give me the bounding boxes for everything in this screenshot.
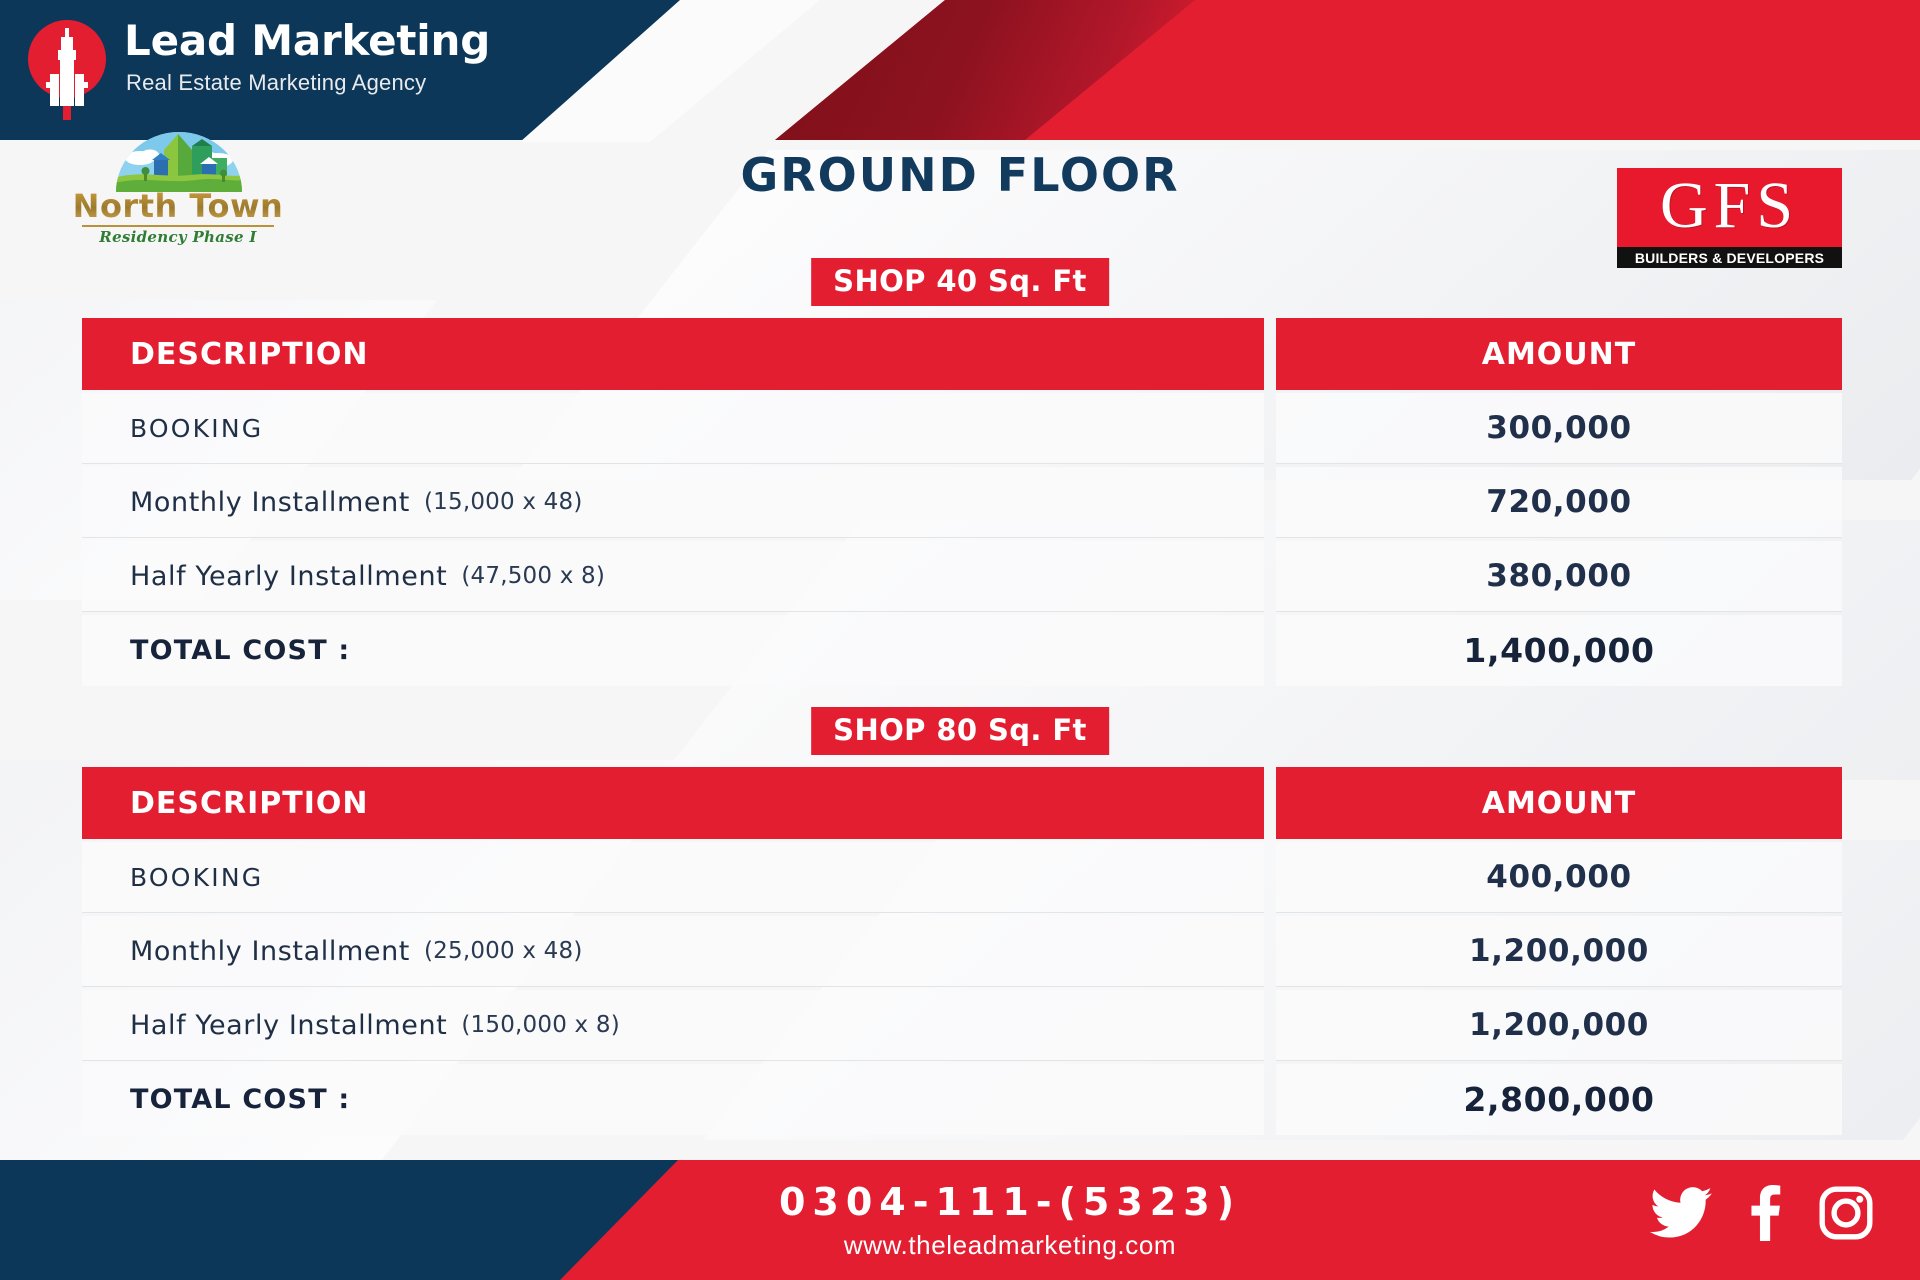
- facebook-icon[interactable]: [1746, 1185, 1784, 1241]
- row-amount: 1,200,000: [1469, 1007, 1649, 1043]
- gfs-logo: GFS BUILDERS & DEVELOPERS: [1617, 168, 1842, 268]
- table-row: Half Yearly Installment (150,000 x 8) 1,…: [82, 990, 1842, 1061]
- row-amount-cell: 300,000: [1276, 393, 1842, 464]
- contact-phone[interactable]: 0304-111-(5323): [560, 1180, 1460, 1224]
- row-label: BOOKING: [130, 414, 263, 443]
- gfs-logo-box: GFS: [1617, 168, 1842, 247]
- building-tower-icon: [46, 28, 88, 120]
- row-description: Half Yearly Installment (150,000 x 8): [82, 990, 1264, 1061]
- row-note: (47,500 x 8): [461, 563, 605, 589]
- table-total-row: TOTAL COST : 2,800,000: [82, 1064, 1842, 1135]
- row-note: (150,000 x 8): [461, 1012, 620, 1038]
- row-description: BOOKING: [82, 842, 1264, 913]
- row-label: Monthly Installment: [130, 487, 410, 518]
- row-description: Half Yearly Installment (47,500 x 8): [82, 541, 1264, 612]
- row-amount-cell: 1,200,000: [1276, 916, 1842, 987]
- row-amount-cell: 380,000: [1276, 541, 1842, 612]
- table-header-row: DESCRIPTION AMOUNT: [82, 767, 1842, 839]
- row-amount-cell: 400,000: [1276, 842, 1842, 913]
- instagram-icon[interactable]: [1818, 1185, 1874, 1241]
- column-header-amount: AMOUNT: [1276, 318, 1842, 390]
- table-row: Monthly Installment (15,000 x 48) 720,00…: [82, 467, 1842, 538]
- shop-size-badge-80: SHOP 80 Sq. Ft: [811, 707, 1109, 755]
- row-amount: 300,000: [1486, 410, 1631, 446]
- shop-size-badge-40: SHOP 40 Sq. Ft: [811, 258, 1109, 306]
- row-description: Monthly Installment (25,000 x 48): [82, 916, 1264, 987]
- row-amount: 2,800,000: [1463, 1080, 1654, 1119]
- social-links: [1650, 1185, 1874, 1241]
- row-label: TOTAL COST :: [130, 1084, 350, 1115]
- column-header-description: DESCRIPTION: [82, 318, 1264, 390]
- table-header-row: DESCRIPTION AMOUNT: [82, 318, 1842, 390]
- row-label: Monthly Installment: [130, 936, 410, 967]
- row-description: Monthly Installment (15,000 x 48): [82, 467, 1264, 538]
- gfs-initials: GFS: [1660, 173, 1799, 239]
- payment-plan-table-80: DESCRIPTION AMOUNT BOOKING 400,000 Month…: [82, 767, 1842, 1138]
- table-row: BOOKING 400,000: [82, 842, 1842, 913]
- row-amount: 1,200,000: [1469, 933, 1649, 969]
- agency-tagline: Real Estate Marketing Agency: [126, 70, 426, 96]
- row-amount-cell: 2,800,000: [1276, 1064, 1842, 1135]
- row-amount: 1,400,000: [1463, 631, 1654, 670]
- row-amount: 720,000: [1486, 484, 1631, 520]
- row-label: Half Yearly Installment: [130, 561, 447, 592]
- row-description: BOOKING: [82, 393, 1264, 464]
- twitter-icon[interactable]: [1650, 1187, 1712, 1239]
- contact-website[interactable]: www.theleadmarketing.com: [560, 1230, 1460, 1261]
- row-amount-cell: 1,200,000: [1276, 990, 1842, 1061]
- gfs-tagline: BUILDERS & DEVELOPERS: [1635, 250, 1824, 266]
- row-amount: 380,000: [1486, 558, 1631, 594]
- row-label: BOOKING: [130, 863, 263, 892]
- table-row: Monthly Installment (25,000 x 48) 1,200,…: [82, 916, 1842, 987]
- column-header-amount: AMOUNT: [1276, 767, 1842, 839]
- row-description: TOTAL COST :: [82, 615, 1264, 686]
- agency-name: Lead Marketing: [124, 18, 490, 64]
- row-description: TOTAL COST :: [82, 1064, 1264, 1135]
- gfs-tagline-bar: BUILDERS & DEVELOPERS: [1617, 247, 1842, 268]
- row-label: TOTAL COST :: [130, 635, 350, 666]
- row-amount-cell: 1,400,000: [1276, 615, 1842, 686]
- north-town-subtitle: Residency Phase I: [62, 228, 294, 246]
- row-amount-cell: 720,000: [1276, 467, 1842, 538]
- table-total-row: TOTAL COST : 1,400,000: [82, 615, 1842, 686]
- row-label: Half Yearly Installment: [130, 1010, 447, 1041]
- row-note: (25,000 x 48): [424, 938, 583, 964]
- flyer-canvas: North Town Residency Phase I GROUND FLOO…: [0, 0, 1920, 1280]
- north-town-divider: [82, 225, 274, 227]
- row-note: (15,000 x 48): [424, 489, 583, 515]
- payment-plan-table-40: DESCRIPTION AMOUNT BOOKING 300,000 Month…: [82, 318, 1842, 689]
- column-header-description: DESCRIPTION: [82, 767, 1264, 839]
- table-row: Half Yearly Installment (47,500 x 8) 380…: [82, 541, 1842, 612]
- row-amount: 400,000: [1486, 859, 1631, 895]
- table-row: BOOKING 300,000: [82, 393, 1842, 464]
- lead-marketing-logo: Lead Marketing Real Estate Marketing Age…: [28, 20, 548, 104]
